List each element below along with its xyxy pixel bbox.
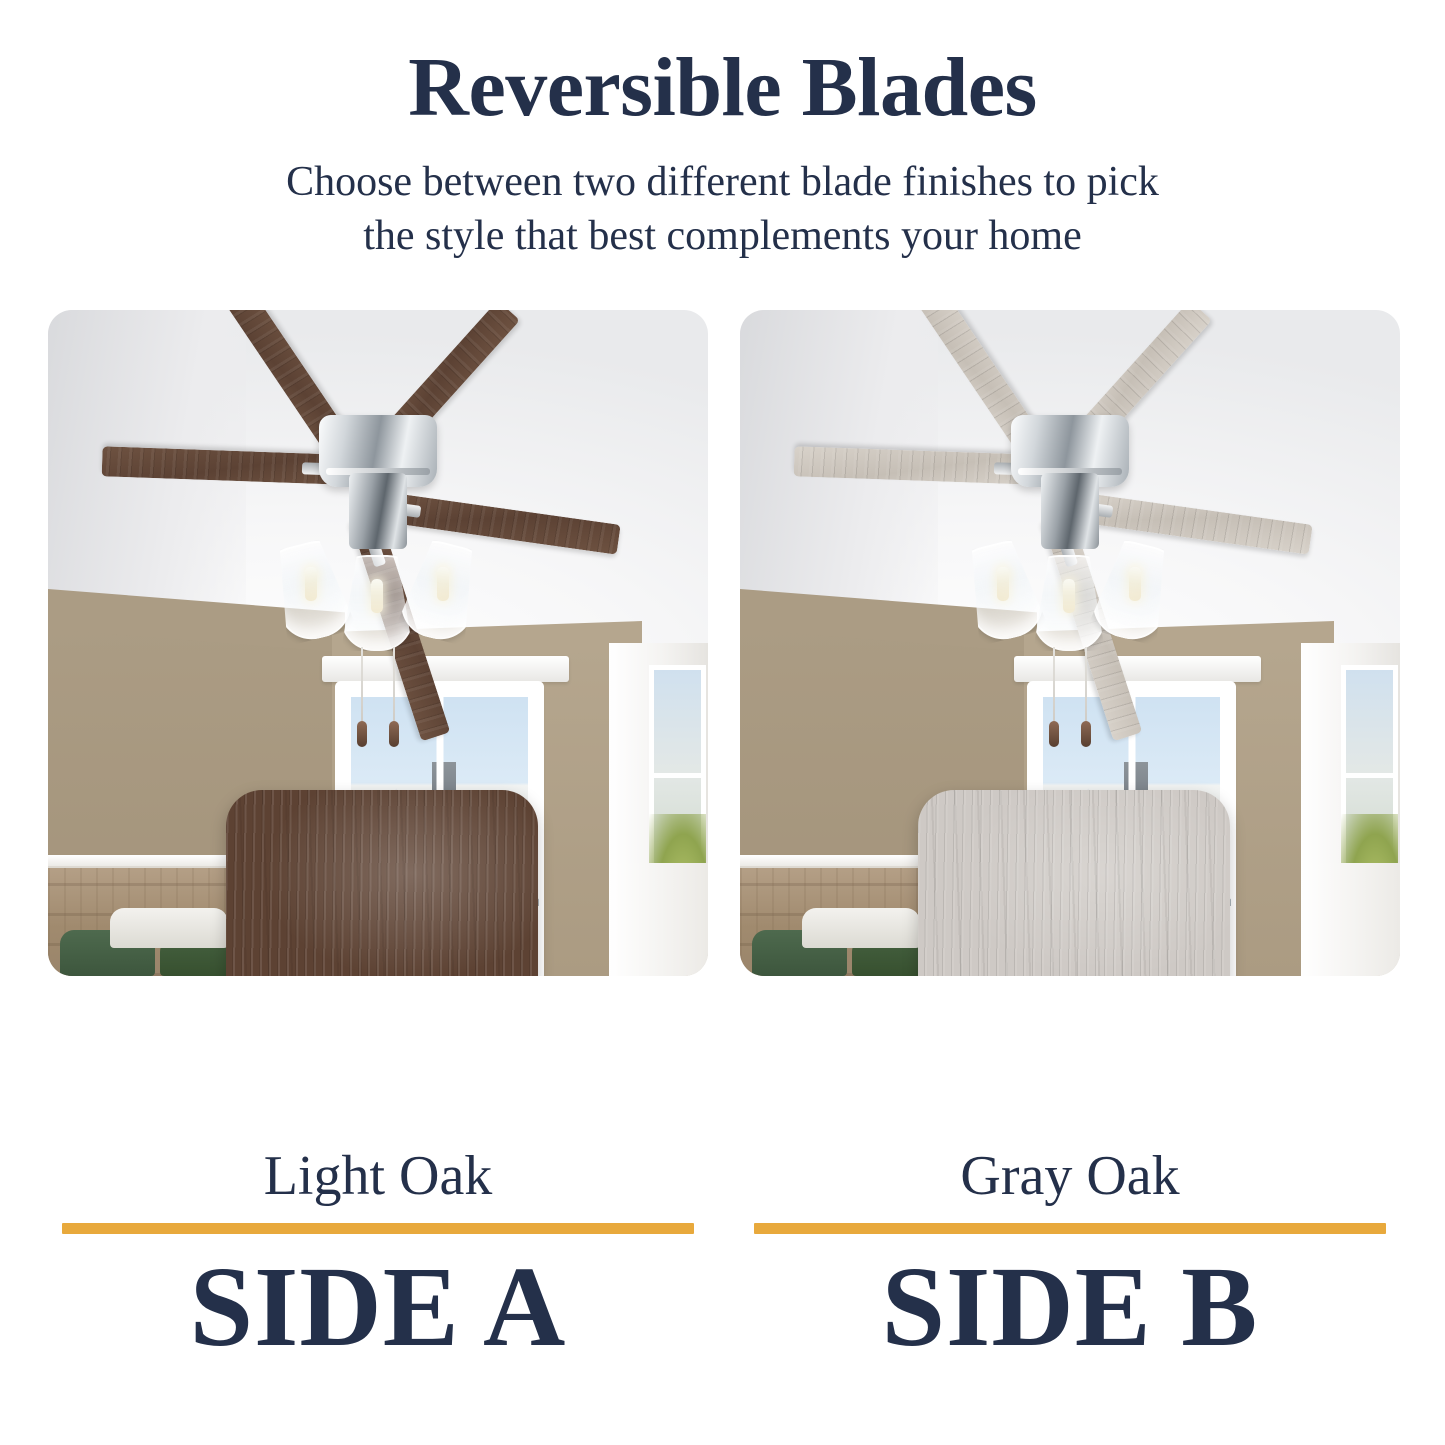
glass-shade <box>341 555 413 651</box>
swatch-grain <box>226 790 538 976</box>
panel-side-b: Gray Oak SIDE B <box>740 310 1400 1145</box>
gold-divider-side-a <box>62 1223 694 1234</box>
pull-chain <box>1085 647 1087 729</box>
baseboard <box>1301 863 1400 976</box>
subtitle-line-1: Choose between two different blade finis… <box>163 156 1283 210</box>
pull-chain <box>393 647 395 729</box>
pull-chain <box>1053 647 1055 729</box>
fan-blade <box>793 446 1044 485</box>
room-photo-side-a <box>48 310 708 976</box>
swatch-grain <box>918 790 1230 976</box>
wood-swatch-icon-side-b <box>918 790 1230 976</box>
ceiling-fan-icon <box>48 310 708 750</box>
glass-shade <box>1033 555 1105 651</box>
room-photo-side-b <box>740 310 1400 976</box>
page-title: Reversible Blades <box>0 46 1445 130</box>
infographic-header: Reversible Blades Choose between two dif… <box>0 0 1445 264</box>
pull-chain-bead <box>1081 721 1091 747</box>
comparison-panels: Light Oak SIDE A <box>0 310 1445 1445</box>
light-fixture <box>273 521 483 671</box>
light-fixture <box>965 521 1175 671</box>
gold-divider-side-b <box>754 1223 1386 1234</box>
panel-side-a: Light Oak SIDE A <box>48 310 708 1145</box>
pull-chain-bead <box>1049 721 1059 747</box>
glass-shade <box>956 536 1049 647</box>
glass-shade <box>264 536 357 647</box>
ceiling-fan-icon <box>740 310 1400 750</box>
white-pillow <box>802 908 920 948</box>
pull-chain-bead <box>389 721 399 747</box>
finish-name-side-b: Gray Oak <box>740 1148 1400 1204</box>
wood-swatch-icon-side-a <box>226 790 538 976</box>
pull-chain-bead <box>357 721 367 747</box>
white-pillow <box>110 908 228 948</box>
fan-blade <box>101 446 352 485</box>
pull-chain <box>361 647 363 729</box>
baseboard <box>609 863 708 976</box>
side-label-a: SIDE A <box>48 1250 708 1364</box>
subtitle-line-2: the style that best complements your hom… <box>163 210 1283 264</box>
page-subtitle: Choose between two different blade finis… <box>163 156 1283 264</box>
finish-name-side-a: Light Oak <box>48 1148 708 1204</box>
side-label-b: SIDE B <box>740 1250 1400 1364</box>
